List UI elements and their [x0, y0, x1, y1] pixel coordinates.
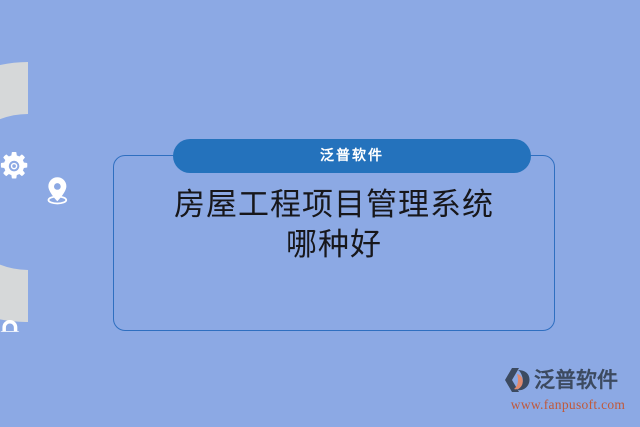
- donut-segment-5: [0, 257, 28, 322]
- donut-segments: [0, 62, 28, 322]
- fanpu-logo-mark-icon: [503, 367, 533, 393]
- gear-icon: [1, 152, 28, 179]
- logo-url: www.fanpusoft.com: [503, 397, 633, 413]
- brand-pill-label: 泛普软件: [320, 149, 384, 163]
- lock-icon: [0, 320, 20, 332]
- brand-pill: 泛普软件: [173, 139, 531, 173]
- logo-row: 泛普软件: [503, 366, 633, 394]
- footer-logo: 泛普软件 www.fanpusoft.com: [503, 366, 633, 414]
- promotional-banner: 泛普软件 房屋工程项目管理系统 哪种好 泛普软件 www.fanpusoft.c…: [0, 0, 640, 427]
- donut-segment-1: [0, 62, 28, 137]
- logo-wordmark: 泛普软件: [534, 370, 618, 391]
- location-pin-icon: [48, 177, 66, 203]
- headline-title: 房屋工程项目管理系统 哪种好: [120, 185, 548, 265]
